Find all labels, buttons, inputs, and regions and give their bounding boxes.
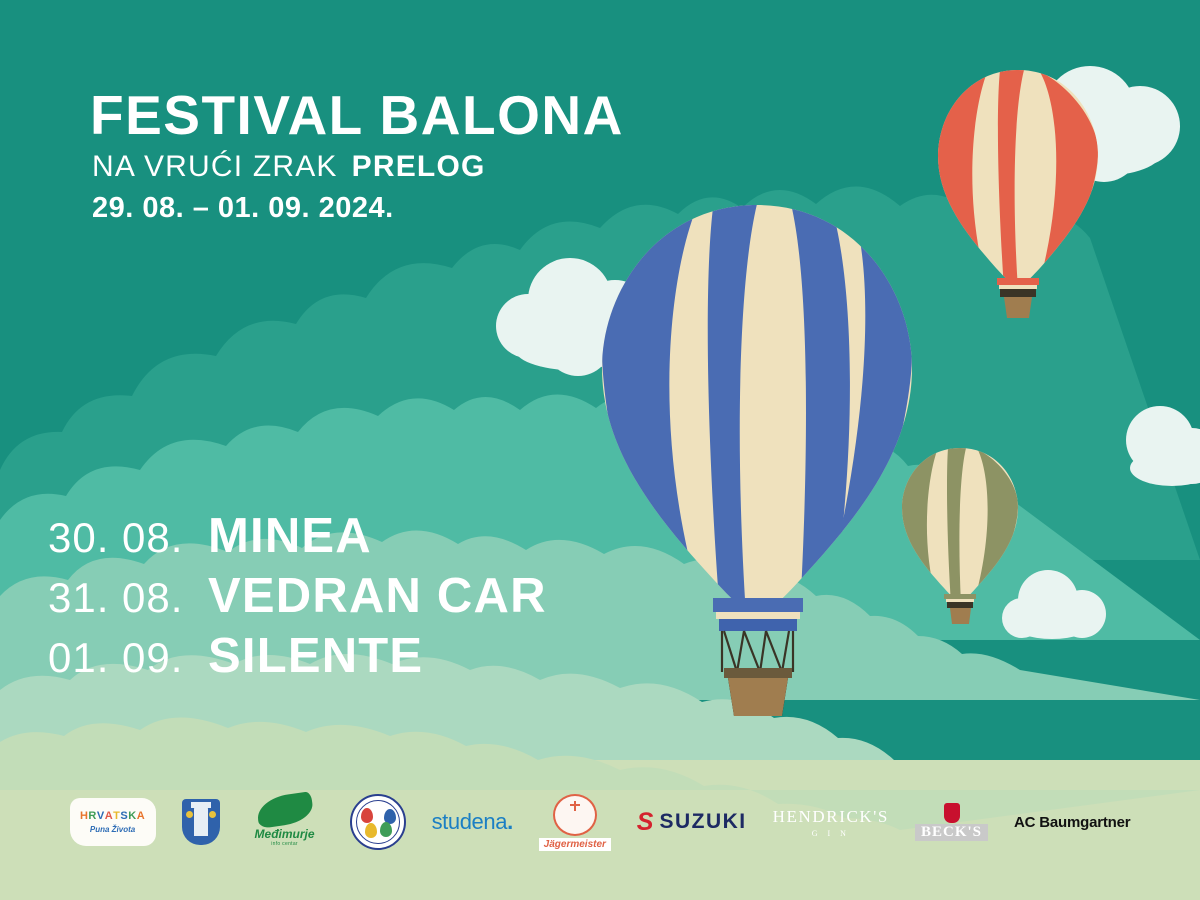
hendricks-tagline: G I N [812,829,850,838]
sponsor-logo-row: HRVATSKA Puna Života Međimurje info cent… [0,786,1200,858]
shield-tower [194,806,208,836]
shield-ornament-left [186,811,193,818]
balloon-olive-basket [950,608,971,624]
festival-dates: 29. 08. – 01. 09. 2024. [92,194,394,223]
suzuki-logo: S SUZUKI [637,810,747,835]
sponsor-balloon-club [350,792,406,852]
lineup-date: 31. 08. [48,577,208,619]
lineup-artist: VEDRAN CAR [208,572,547,621]
becks-key-icon [944,803,960,823]
becks-logo: BECK'S [915,803,988,841]
emblem-balloon-yellow [365,823,377,838]
subtitle-light: NA VRUĆI ZRAK [92,150,338,183]
lineup-artist: MINEA [208,512,372,561]
sponsor-prelog [182,792,220,852]
sponsor-medjimurje: Međimurje info centar [246,792,324,852]
sponsor-suzuki: S SUZUKI [637,792,747,852]
medjimurje-wordmark: Međimurje [255,827,315,841]
leaf-icon [255,791,315,829]
studena-dot: . [507,809,513,834]
balloon-ropes [722,631,793,672]
croatia-tagline: Puna Života [90,825,135,834]
suzuki-s-icon: S [637,810,654,835]
hendricks-wordmark: HENDRICK'S [773,807,889,827]
festival-poster: FESTIVAL BALONA NA VRUĆI ZRAKPRELOG 29. … [0,0,1200,900]
emblem-balloon-red [361,808,373,823]
studena-text: studena [432,809,508,834]
balloon-red-basket [1004,297,1032,318]
shield-ornament-right [209,811,216,818]
sponsor-hendricks: HENDRICK'S G I N [773,792,889,852]
balloon-main-blue [595,195,920,716]
jagermeister-logo: Jägermeister [539,792,611,852]
becks-wordmark: BECK'S [915,824,988,841]
hendricks-gin-logo: HENDRICK'S G I N [773,807,889,838]
sponsor-ac-baumgartner: AC Baumgartner [1014,792,1130,852]
balloon-red [930,62,1106,318]
subtitle-location: PRELOG [352,150,486,183]
subtitle: NA VRUĆI ZRAKPRELOG [92,152,486,182]
sponsor-studena: studena. [432,792,513,852]
list-item: 31. 08. VEDRAN CAR [48,572,547,624]
medjimurje-leaf-logo: Međimurje info centar [246,795,324,849]
balloon-basket-rim [724,668,792,678]
lineup-date: 30. 08. [48,517,208,559]
lineup-artist: SILENTE [208,632,423,681]
list-item: 30. 08. MINEA [48,512,547,564]
balloon-olive [896,442,1024,624]
lineup-list: 30. 08. MINEA 31. 08. VEDRAN CAR 01. 09.… [48,512,547,692]
suzuki-wordmark: SUZUKI [659,810,746,834]
ac-baumgartner-wordmark: AC Baumgartner [1014,814,1130,831]
prelog-coat-of-arms [182,799,220,845]
jagermeister-wordmark: Jägermeister [539,838,611,851]
emblem-balloon-green [380,822,392,837]
sponsor-becks: BECK'S [915,792,988,852]
list-item: 01. 09. SILENTE [48,632,547,684]
croatia-tourism-logo: HRVATSKA Puna Života [70,798,156,846]
croatia-wordmark: HRVATSKA [80,811,145,822]
medjimurje-tagline: info centar [271,841,298,847]
stag-emblem-icon [553,794,597,836]
lineup-date: 01. 09. [48,637,208,679]
balloon-club-emblem [350,794,406,850]
studena-wordmark: studena. [432,809,513,835]
sponsor-croatia-tourism: HRVATSKA Puna Života [70,792,156,852]
sponsor-jagermeister: Jägermeister [539,792,611,852]
page-title: FESTIVAL BALONA [90,88,624,143]
